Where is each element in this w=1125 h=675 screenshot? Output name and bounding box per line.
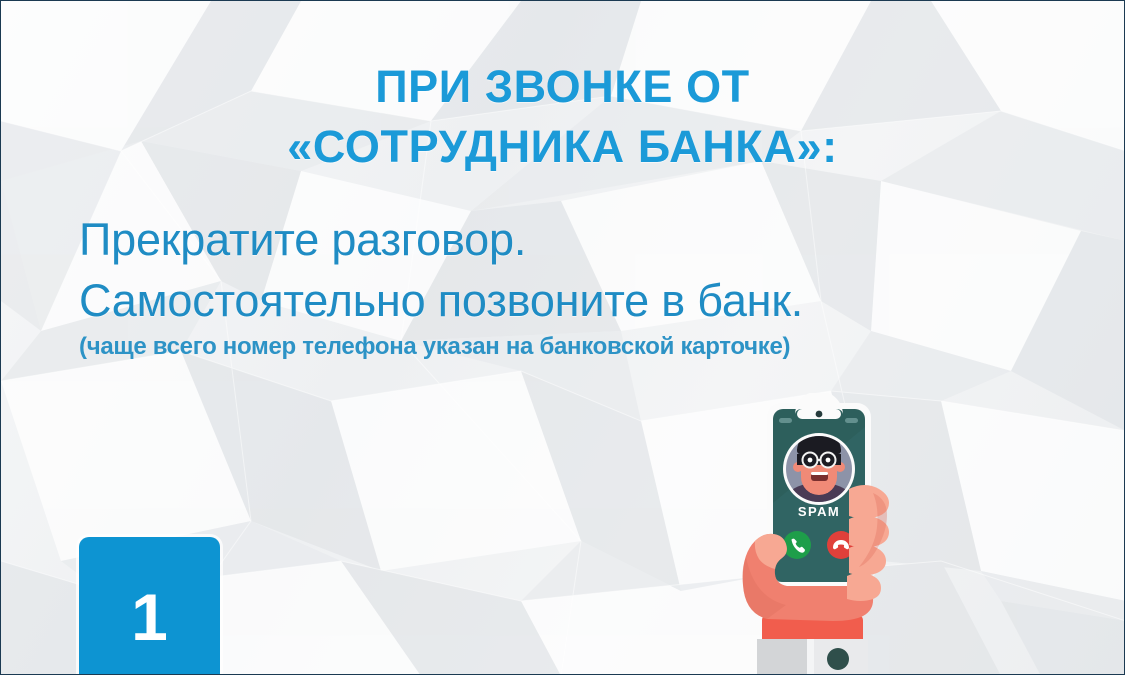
advice-line-1: Прекратите разговор.	[79, 209, 1039, 270]
avatar-teeth	[811, 472, 828, 475]
status-indicator-left	[779, 418, 792, 423]
hand-phone-svg: SPAM	[723, 393, 923, 675]
avatar-glasses-bridge	[817, 459, 821, 461]
infographic-slide: ПРИ ЗВОНКЕ ОТ «СОТРУДНИКА БАНКА»: Прекра…	[0, 0, 1125, 675]
accept-call-button[interactable]	[783, 531, 811, 559]
heading-line-1: ПРИ ЗВОНКЕ ОТ	[1, 57, 1124, 117]
advice-line-2: Самостоятельно позвоните в банк.	[79, 270, 1039, 331]
page-title: ПРИ ЗВОНКЕ ОТ «СОТРУДНИКА БАНКА»:	[1, 57, 1124, 177]
cuff-button-icon	[827, 648, 849, 670]
cuff-seam	[807, 639, 814, 675]
accept-call-circle[interactable]	[783, 531, 811, 559]
avatar-beanie-brim	[797, 447, 841, 454]
body-copy: Прекратите разговор. Самостоятельно позв…	[79, 209, 1039, 362]
advice-note: (чаще всего номер телефона указан на бан…	[79, 333, 1039, 362]
step-number-value: 1	[131, 584, 168, 650]
fingers-group	[839, 479, 893, 601]
front-camera-icon	[816, 411, 823, 418]
sleeve-group	[757, 615, 868, 675]
status-indicator-right	[845, 418, 858, 423]
illustration-hand-holding-phone: SPAM	[723, 393, 923, 675]
step-number-badge: 1	[79, 537, 220, 675]
spam-label: SPAM	[798, 504, 840, 519]
cuff-left-panel	[757, 639, 807, 675]
avatar-eye-left	[808, 458, 813, 463]
avatar-eye-right	[826, 458, 831, 463]
heading-line-2: «СОТРУДНИКА БАНКА»:	[1, 117, 1124, 177]
